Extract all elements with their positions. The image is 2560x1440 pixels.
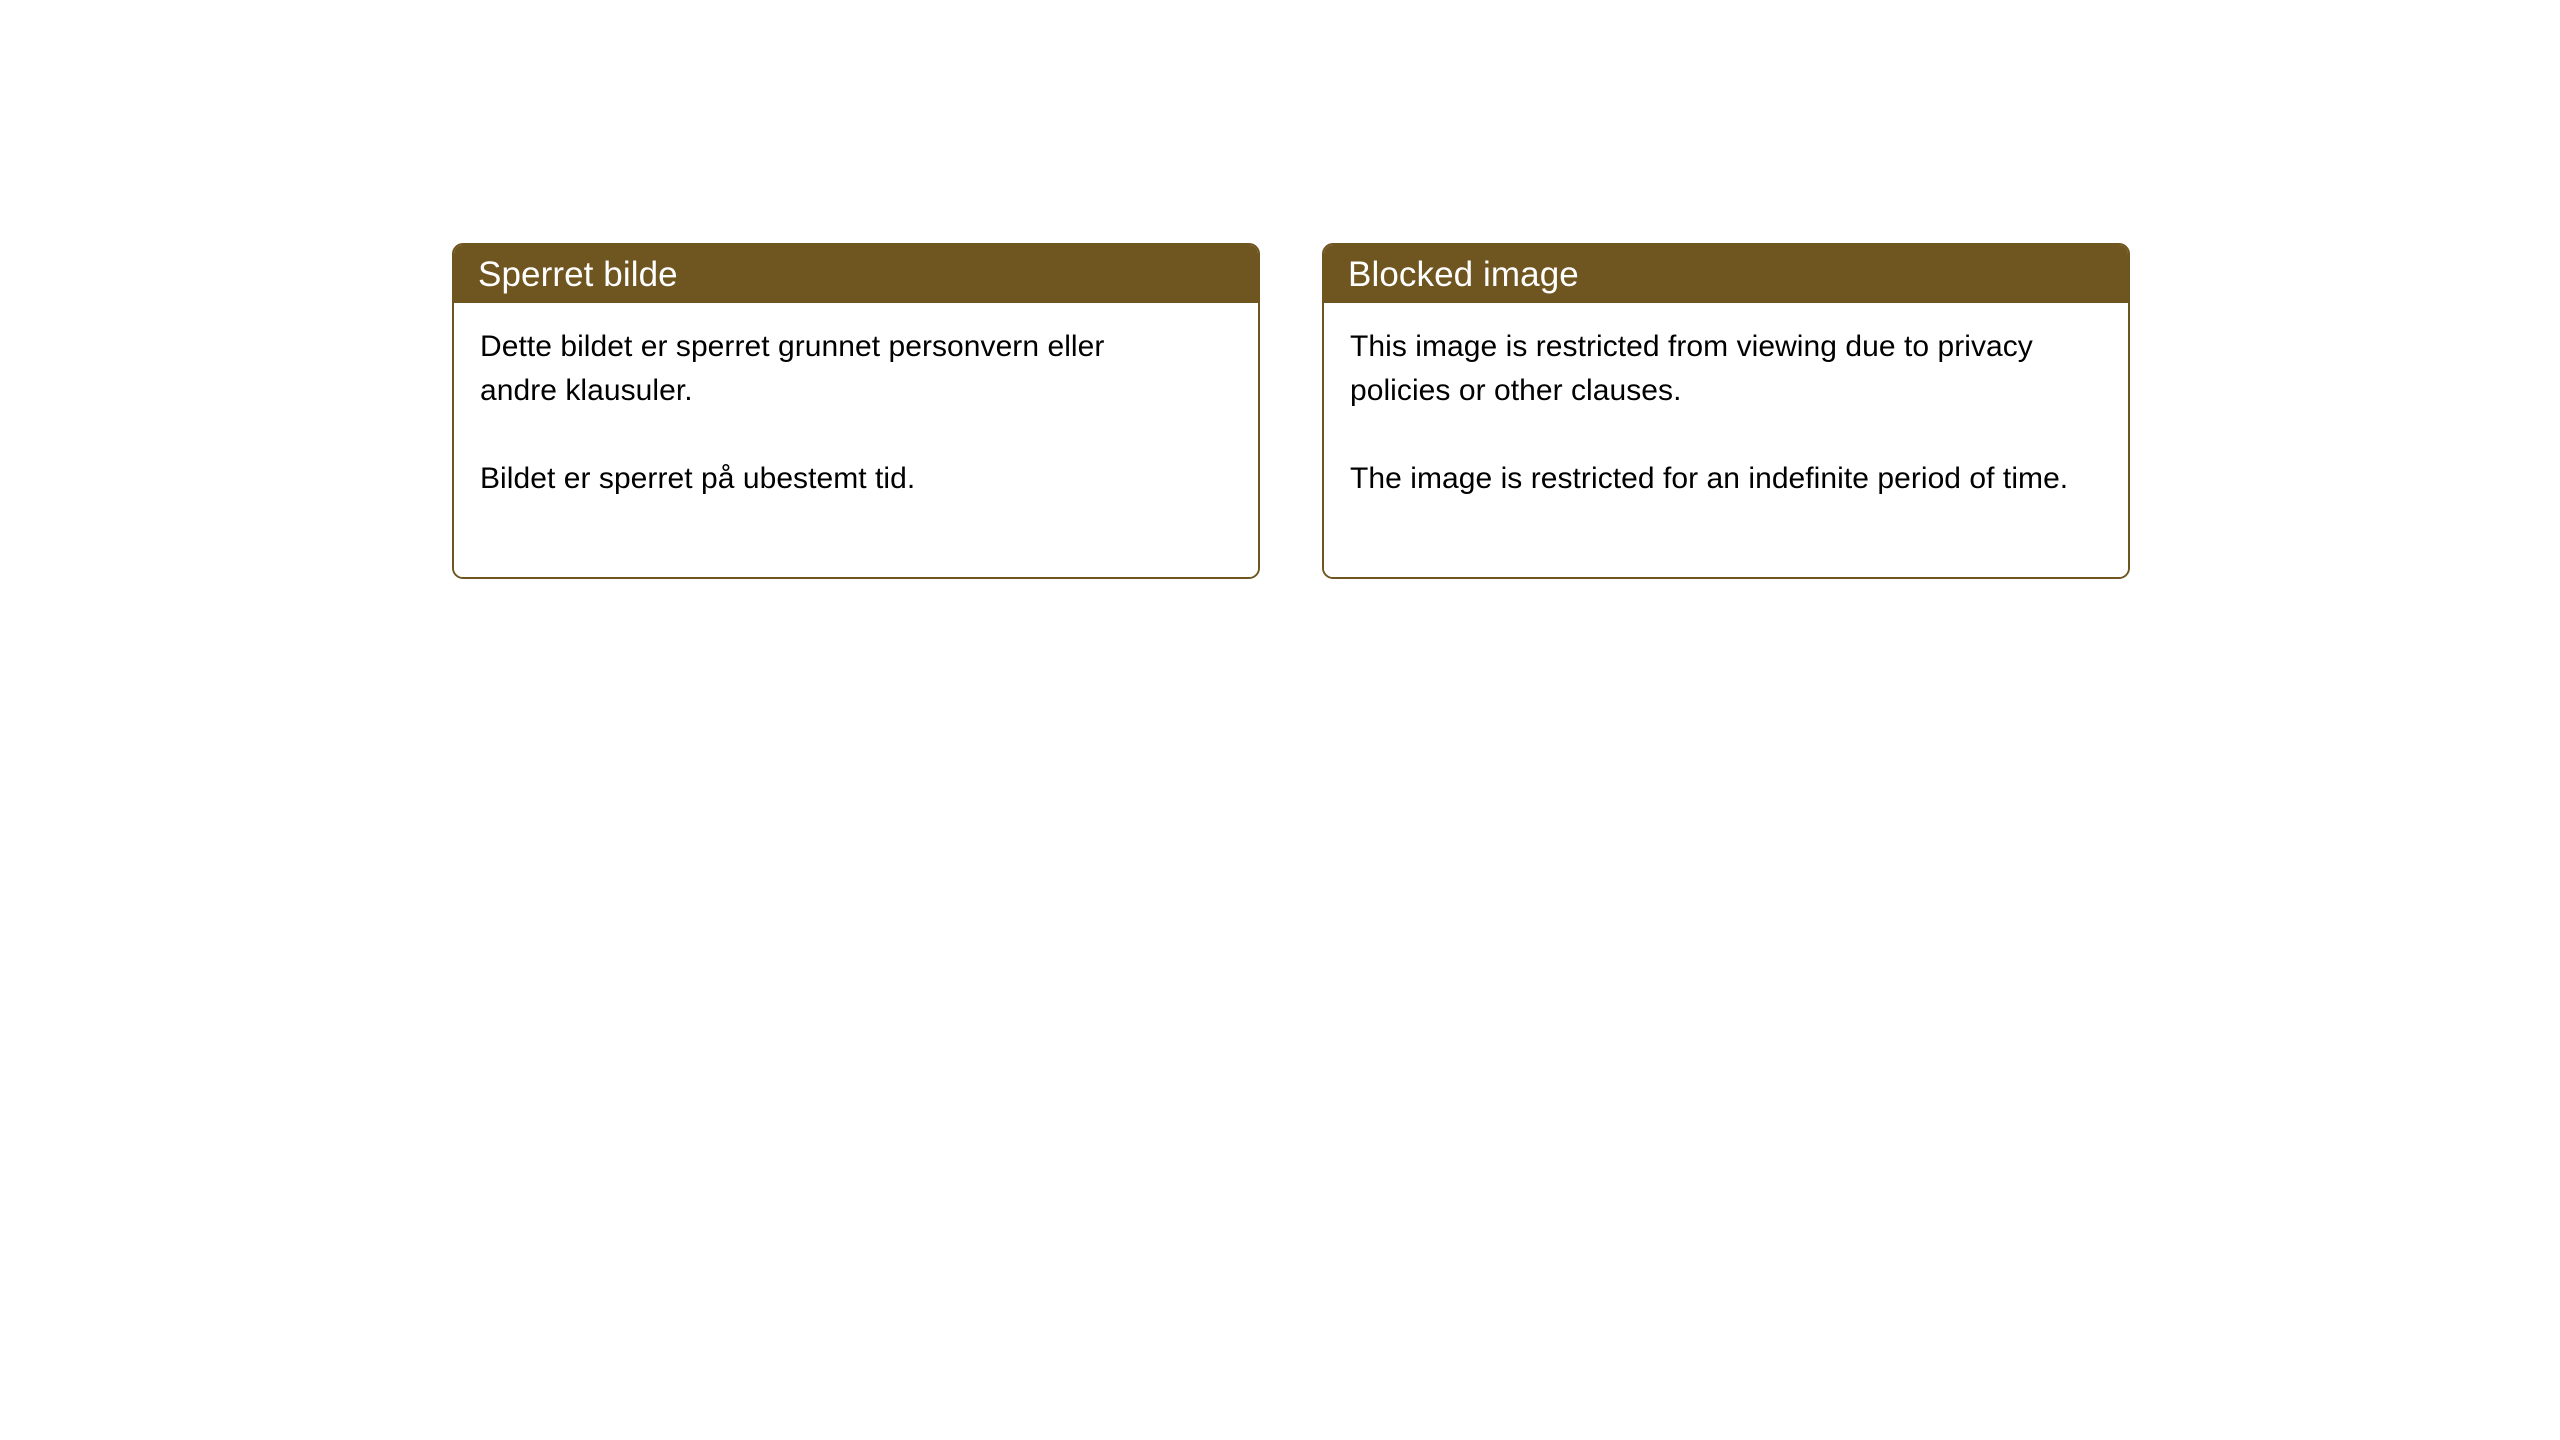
blocked-image-notice-panel-en: Blocked image This image is restricted f… [1322,243,2130,579]
blocked-image-notice-group: Sperret bilde Dette bildet er sperret gr… [452,243,2130,579]
panel-paragraph-duration-no: Bildet er sperret på ubestemt tid. [480,457,1180,501]
panel-body-no: Dette bildet er sperret grunnet personve… [454,303,1258,577]
blocked-image-notice-panel-no: Sperret bilde Dette bildet er sperret gr… [452,243,1260,579]
panel-title-no: Sperret bilde [454,245,1258,303]
page-canvas: Sperret bilde Dette bildet er sperret gr… [0,0,2560,1440]
panel-title-en: Blocked image [1324,245,2128,303]
panel-paragraph-reason-no: Dette bildet er sperret grunnet personve… [480,325,1180,413]
panel-body-en: This image is restricted from viewing du… [1324,303,2128,577]
panel-paragraph-reason-en: This image is restricted from viewing du… [1350,325,2090,413]
panel-paragraph-duration-en: The image is restricted for an indefinit… [1350,457,2090,501]
